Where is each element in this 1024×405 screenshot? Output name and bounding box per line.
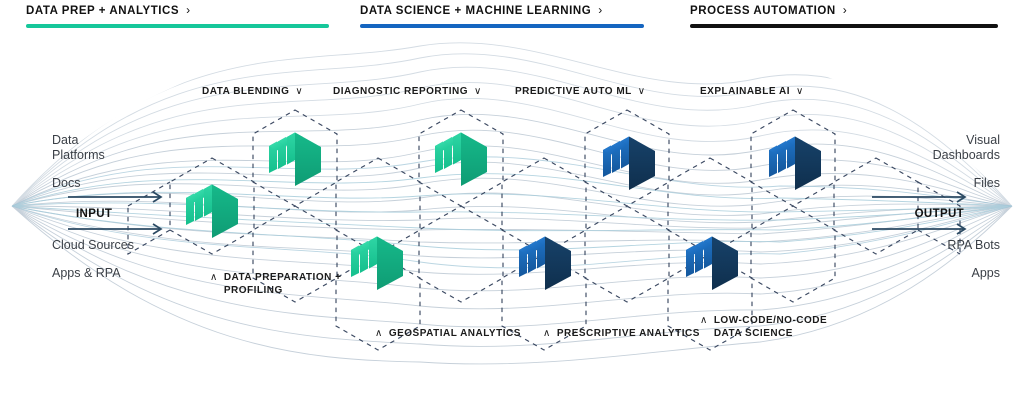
section-header-data-prep[interactable]: DATA PREP + ANALYTICS ›	[26, 5, 329, 28]
section-header-label: DATA SCIENCE + MACHINE LEARNING ›	[360, 5, 644, 17]
node-label-line2: DATA SCIENCE	[714, 328, 827, 341]
node-label-diagnostic-reporting[interactable]: DIAGNOSTIC REPORTING ∨	[333, 86, 482, 99]
chevron-right-icon: ›	[598, 4, 603, 16]
node-label-explainable-ai[interactable]: EXPLAINABLE AI ∨	[700, 86, 804, 99]
output-label-rpa-bots: RPA Bots	[947, 238, 1000, 253]
chevron-right-icon: ›	[186, 4, 191, 16]
node-label-line1: DATA PREPARATION +	[224, 272, 342, 285]
output-label-files: Files	[974, 176, 1000, 191]
node-label-text: PREDICTIVE AUTO ML	[515, 86, 632, 99]
flow-lines	[12, 43, 1012, 364]
node-label-text: GEOSPATIAL ANALYTICS	[389, 328, 521, 341]
node-label-text: DATA BLENDING	[202, 86, 289, 99]
node-label-text: PRESCRIPTIVE ANALYTICS	[557, 328, 700, 341]
output-label-visual-dashboards: Visual Dashboards	[933, 133, 1000, 163]
node-label-data-blending[interactable]: DATA BLENDING ∨	[202, 86, 303, 99]
input-label-apps-rpa: Apps & RPA	[52, 266, 121, 281]
section-header-label: DATA PREP + ANALYTICS ›	[26, 5, 329, 17]
node-label-line2: PROFILING	[224, 285, 342, 298]
section-header-data-science[interactable]: DATA SCIENCE + MACHINE LEARNING ›	[360, 5, 644, 28]
input-label-data-platforms: Data Platforms	[52, 133, 105, 163]
section-rule	[26, 24, 329, 28]
section-rule	[360, 24, 644, 28]
input-label-line1: Data	[52, 133, 105, 148]
section-title: DATA PREP + ANALYTICS	[26, 5, 179, 17]
pipeline-illustration	[0, 0, 1024, 405]
node-label-prescriptive-analytics[interactable]: ∧ PRESCRIPTIVE ANALYTICS	[543, 328, 700, 341]
section-title: DATA SCIENCE + MACHINE LEARNING	[360, 5, 591, 17]
chevron-up-icon: ∧	[210, 272, 218, 284]
node-label-text: DIAGNOSTIC REPORTING	[333, 86, 468, 99]
cube-data-blending[interactable]	[269, 132, 321, 186]
node-label-text: EXPLAINABLE AI	[700, 86, 790, 99]
output-label-line1: Visual	[933, 133, 1000, 148]
chevron-down-icon: ∨	[638, 86, 646, 98]
chevron-up-icon: ∧	[700, 315, 708, 327]
input-label-cloud-sources: Cloud Sources	[52, 238, 134, 253]
diagram-canvas: DATA PREP + ANALYTICS › DATA SCIENCE + M…	[0, 0, 1024, 405]
node-label-geospatial-analytics[interactable]: ∧ GEOSPATIAL ANALYTICS	[375, 328, 521, 341]
chevron-up-icon: ∧	[543, 328, 551, 340]
cube-predictive-auto-ml[interactable]	[603, 137, 655, 191]
input-badge: INPUT	[76, 207, 112, 222]
chevron-down-icon: ∨	[295, 86, 303, 98]
node-label-predictive-auto-ml[interactable]: PREDICTIVE AUTO ML ∨	[515, 86, 646, 99]
output-label-line2: Dashboards	[933, 148, 1000, 163]
section-title: PROCESS AUTOMATION	[690, 5, 836, 17]
node-label-low-code-no-code-data-science[interactable]: ∧ LOW-CODE/NO-CODE DATA SCIENCE	[700, 315, 827, 340]
node-label-text: DATA PREPARATION + PROFILING	[224, 272, 342, 297]
input-label-line2: Platforms	[52, 148, 105, 163]
node-label-data-preparation-profiling[interactable]: ∧ DATA PREPARATION + PROFILING	[210, 272, 341, 297]
output-badge: OUTPUT	[915, 207, 964, 222]
input-label-docs: Docs	[52, 176, 80, 191]
node-label-text: LOW-CODE/NO-CODE DATA SCIENCE	[714, 315, 827, 340]
section-rule	[690, 24, 998, 28]
cube-explainable-ai[interactable]	[769, 137, 821, 191]
chevron-right-icon: ›	[843, 4, 848, 16]
chevron-up-icon: ∧	[375, 328, 383, 340]
section-header-label: PROCESS AUTOMATION ›	[690, 5, 998, 17]
section-header-process-automation[interactable]: PROCESS AUTOMATION ›	[690, 5, 998, 28]
chevron-down-icon: ∨	[474, 86, 482, 98]
node-label-line1: LOW-CODE/NO-CODE	[714, 315, 827, 328]
output-label-apps: Apps	[972, 266, 1001, 281]
chevron-down-icon: ∨	[796, 86, 804, 98]
